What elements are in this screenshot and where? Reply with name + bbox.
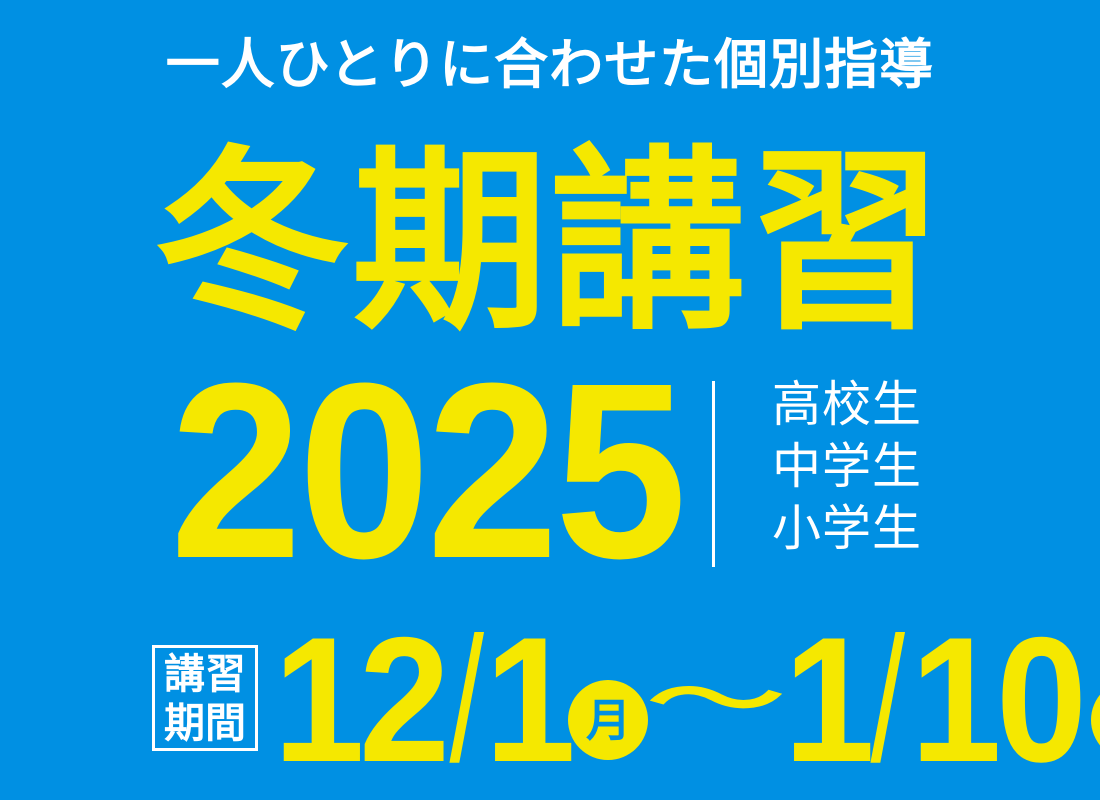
- poster-year: 2025: [170, 346, 683, 596]
- poster-tagline: 一人ひとりに合わせた個別指導: [0, 38, 1100, 92]
- vertical-divider: [712, 381, 715, 567]
- end-month: 1: [784, 625, 870, 775]
- audience-item-junior-high: 中学生: [772, 436, 922, 498]
- start-weekday-badge: 月: [568, 680, 648, 760]
- poster-title: 冬期講習: [0, 145, 1100, 341]
- winter-course-poster: 一人ひとりに合わせた個別指導 冬期講習 2025 高校生 中学生 小学生 講習 …: [0, 0, 1100, 800]
- year-audience-row: 2025 高校生 中学生 小学生: [0, 372, 1100, 572]
- start-date-separator-icon: /: [449, 625, 484, 775]
- period-label-line1: 講習: [155, 650, 255, 699]
- audience-item-elementary: 小学生: [772, 498, 922, 560]
- audience-list: 高校生 中学生 小学生: [772, 374, 922, 560]
- end-day: 10: [910, 625, 1081, 775]
- period-label-badge: 講習 期間: [152, 645, 258, 751]
- range-mark-icon: 〜: [647, 654, 785, 747]
- period-row: 講習 期間 12 / 1 月 〜 1 / 10 土: [0, 620, 1100, 780]
- start-day: 1: [485, 625, 571, 775]
- period-dates: 12 / 1 月 〜 1 / 10 土: [266, 620, 1100, 780]
- end-date-separator-icon: /: [871, 625, 906, 775]
- period-label-line2: 期間: [155, 699, 255, 748]
- end-weekday-badge: 土: [1091, 680, 1100, 760]
- start-month: 12: [273, 625, 444, 775]
- audience-item-high-school: 高校生: [772, 374, 922, 436]
